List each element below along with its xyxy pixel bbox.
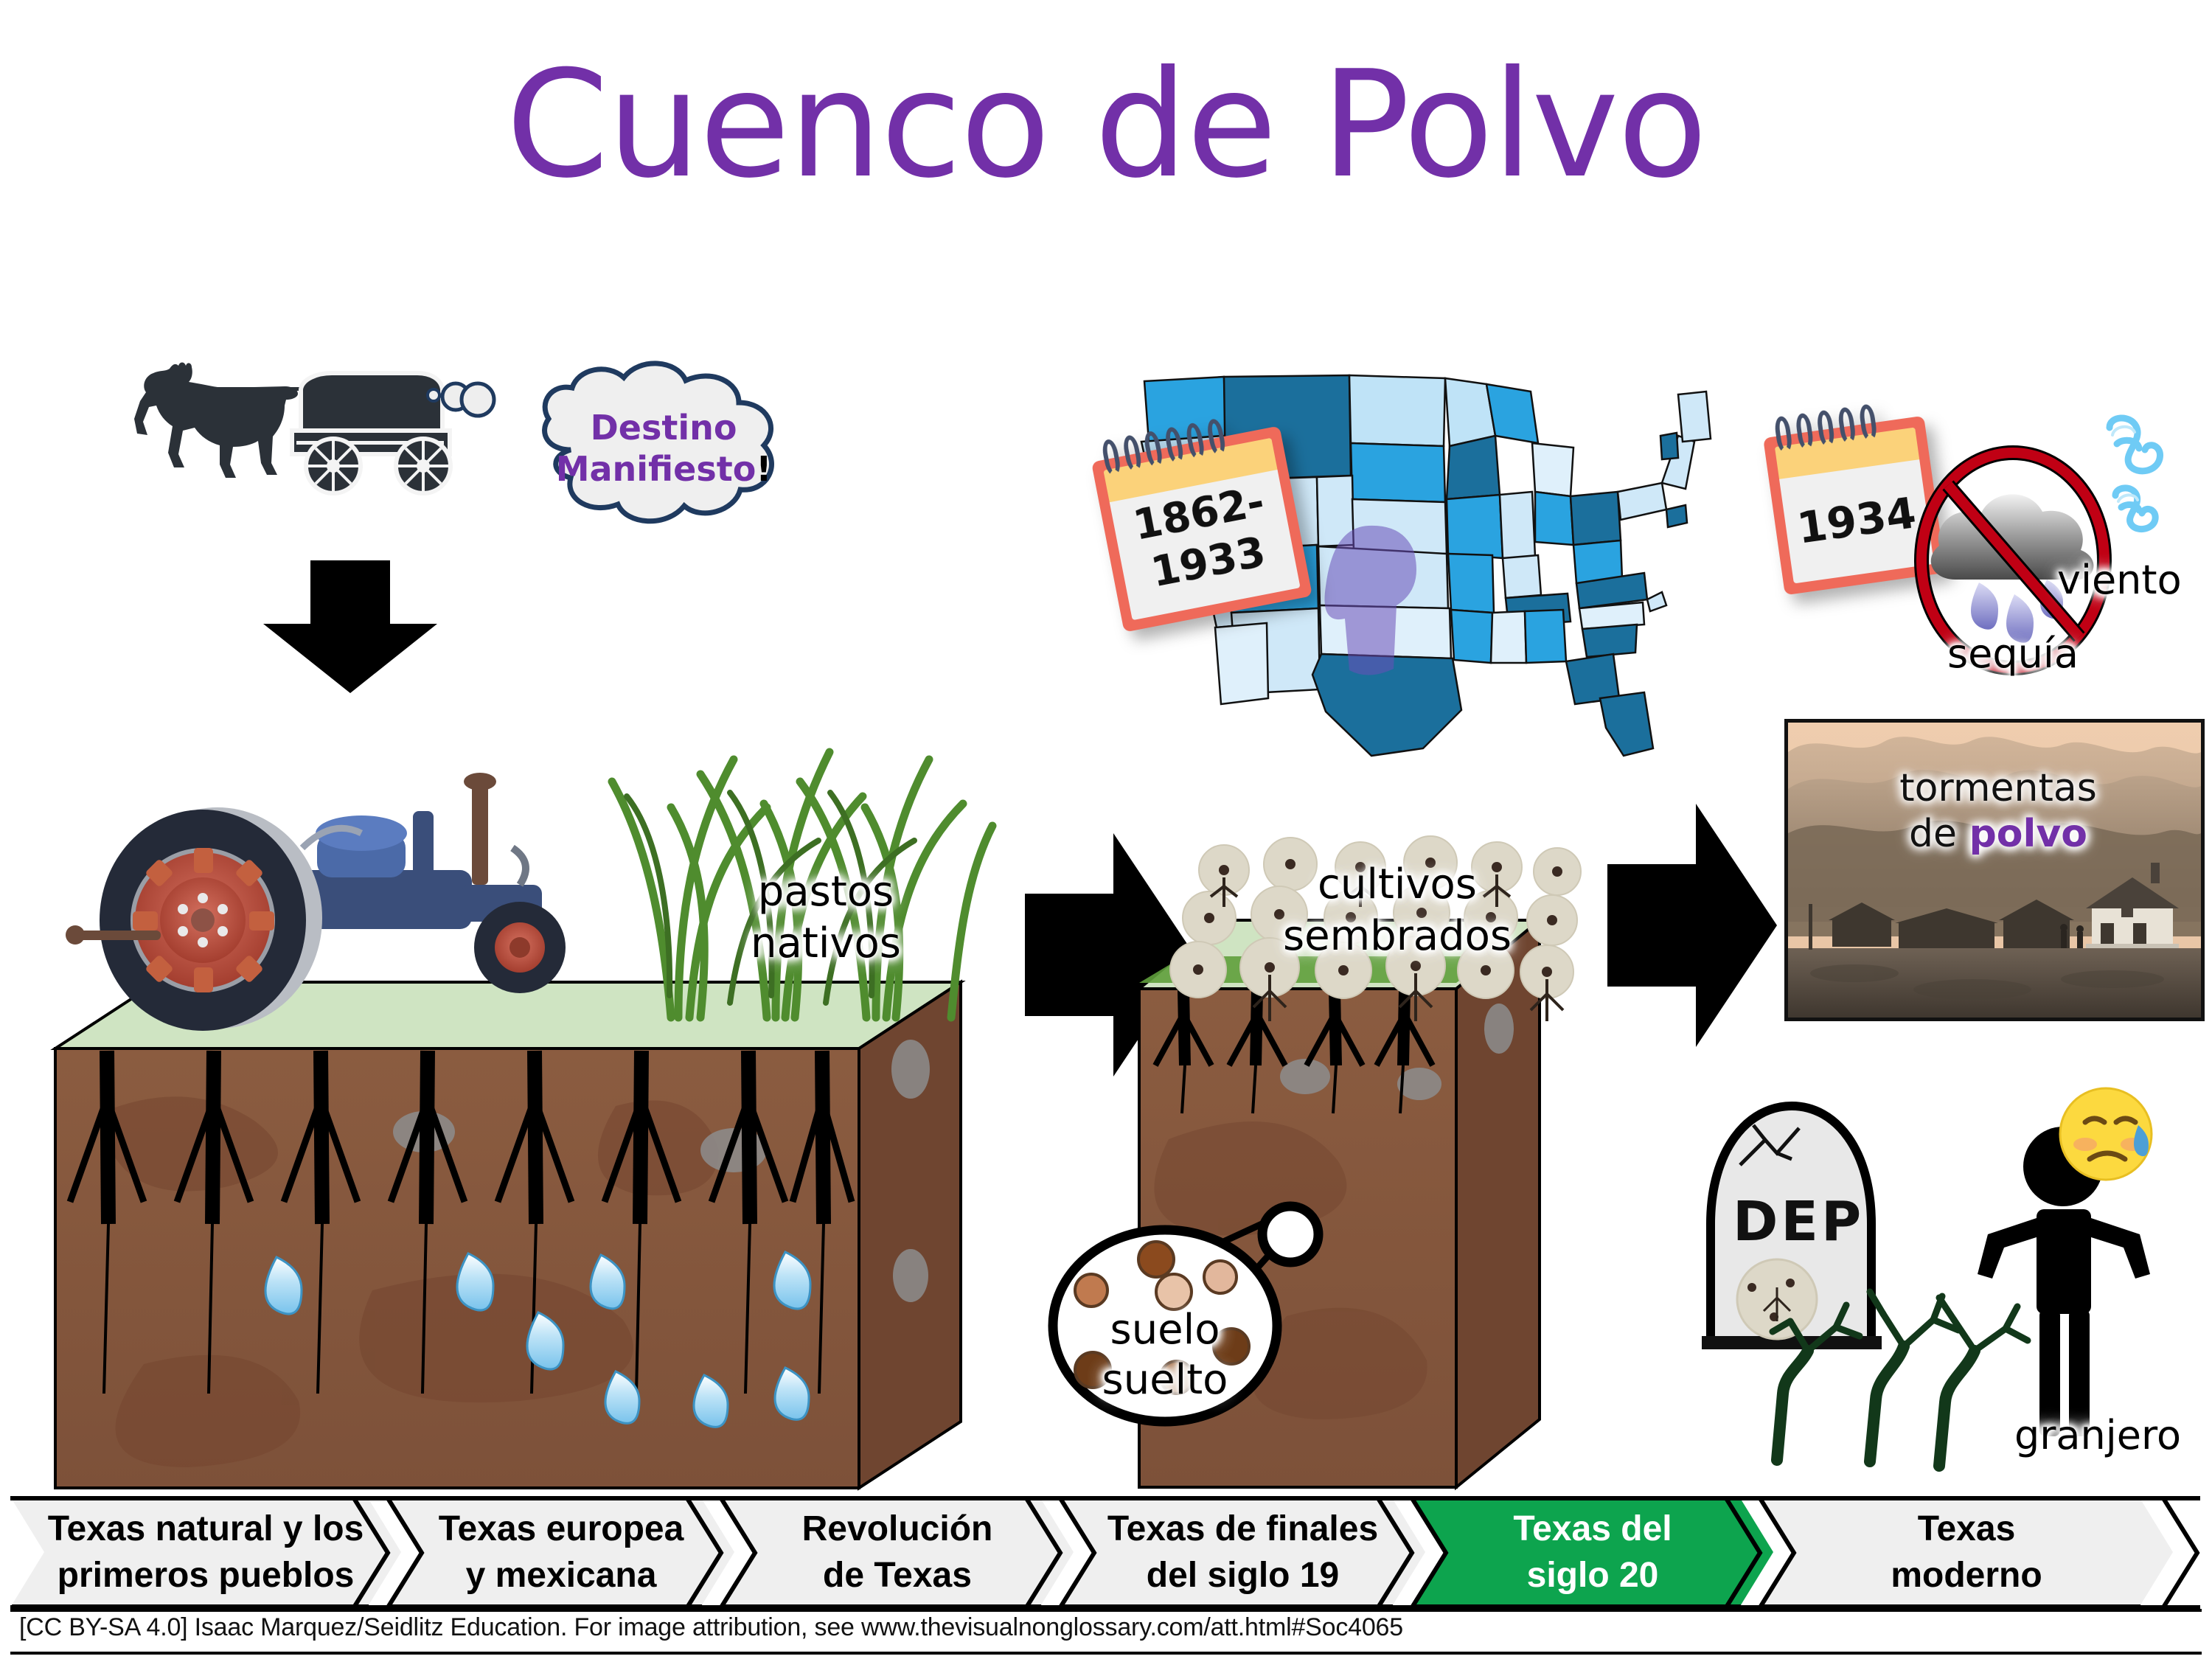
timeline-bar: Texas natural y los primeros pueblos Tex… <box>10 1497 2202 1607</box>
crying-face-icon <box>2060 1088 2152 1180</box>
svg-text:DEP: DEP <box>1733 1190 1864 1253</box>
exclamation-mark: ! <box>756 449 771 489</box>
timeline-item-4-line2: siglo 20 <box>1513 1552 1672 1599</box>
dust-keyword: polvo <box>1969 812 2087 856</box>
native-grass-label: pastos nativos <box>708 866 944 970</box>
timeline-item-2-line1: Revolución <box>802 1506 993 1552</box>
thought-bubble-text: Destino Manifiesto! <box>509 407 818 490</box>
covered-wagon-icon <box>140 354 479 501</box>
tractor-icon <box>59 737 590 1032</box>
loose-soil-label: suelo suelto <box>1054 1305 1276 1406</box>
planted-crops-label: cultivos sembrados <box>1253 859 1541 962</box>
farmer-label: granjero <box>1983 1412 2212 1458</box>
timeline-item-5-line2: moderno <box>1891 1552 2042 1599</box>
footer-divider-bottom <box>10 1652 2202 1655</box>
timeline-item-3-line1: Texas de finales <box>1107 1506 1378 1552</box>
timeline-item-0-line1: Texas natural y los <box>48 1506 364 1552</box>
dust-storm-caption: tormentas de polvo <box>1788 765 2205 858</box>
timeline-item-3[interactable]: Texas de finales del siglo 19 <box>1060 1497 1425 1607</box>
timeline-item-5[interactable]: Texas moderno <box>1760 1497 2173 1607</box>
drought-label: sequía <box>1906 630 2120 677</box>
timeline-item-4-active[interactable]: Texas del siglo 20 <box>1412 1497 1773 1607</box>
timeline-item-2-line2: de Texas <box>802 1552 993 1599</box>
poster-canvas: Cuenco de Polvo <box>0 0 2212 1659</box>
timeline-item-0[interactable]: Texas natural y los primeros pueblos <box>10 1497 401 1607</box>
calendar-year-line1: 1934 <box>1794 487 1919 554</box>
timeline-item-3-line2: del siglo 19 <box>1107 1552 1378 1599</box>
thought-bubble: Destino Manifiesto! <box>509 361 818 538</box>
timeline-item-5-line1: Texas <box>1891 1506 2042 1552</box>
attribution-text: [CC BY-SA 4.0] Isaac Marquez/Seidlitz Ed… <box>19 1613 2157 1642</box>
timeline-item-4-line1: Texas del <box>1513 1506 1672 1552</box>
wind-icon <box>2105 413 2212 546</box>
timeline-item-2[interactable]: Revolución de Texas <box>721 1497 1074 1607</box>
soil-block-native-grass <box>55 981 962 1489</box>
dust-storm-photo: tormentas de polvo <box>1784 719 2205 1021</box>
down-arrow-icon <box>254 560 446 693</box>
footer-divider-top <box>10 1609 2202 1612</box>
right-arrow-icon-2 <box>1607 804 1777 1047</box>
timeline-item-1-line2: y mexicana <box>439 1552 684 1599</box>
timeline-item-1[interactable]: Texas europea y mexicana <box>388 1497 734 1607</box>
calendar-1862-1933: 1862- 1933 <box>1091 425 1312 632</box>
wind-label: viento <box>2057 557 2212 603</box>
timeline-item-1-line1: Texas europea <box>439 1506 684 1552</box>
timeline-item-0-line2: primeros pueblos <box>48 1552 364 1599</box>
page-title: Cuenco de Polvo <box>0 52 2212 199</box>
